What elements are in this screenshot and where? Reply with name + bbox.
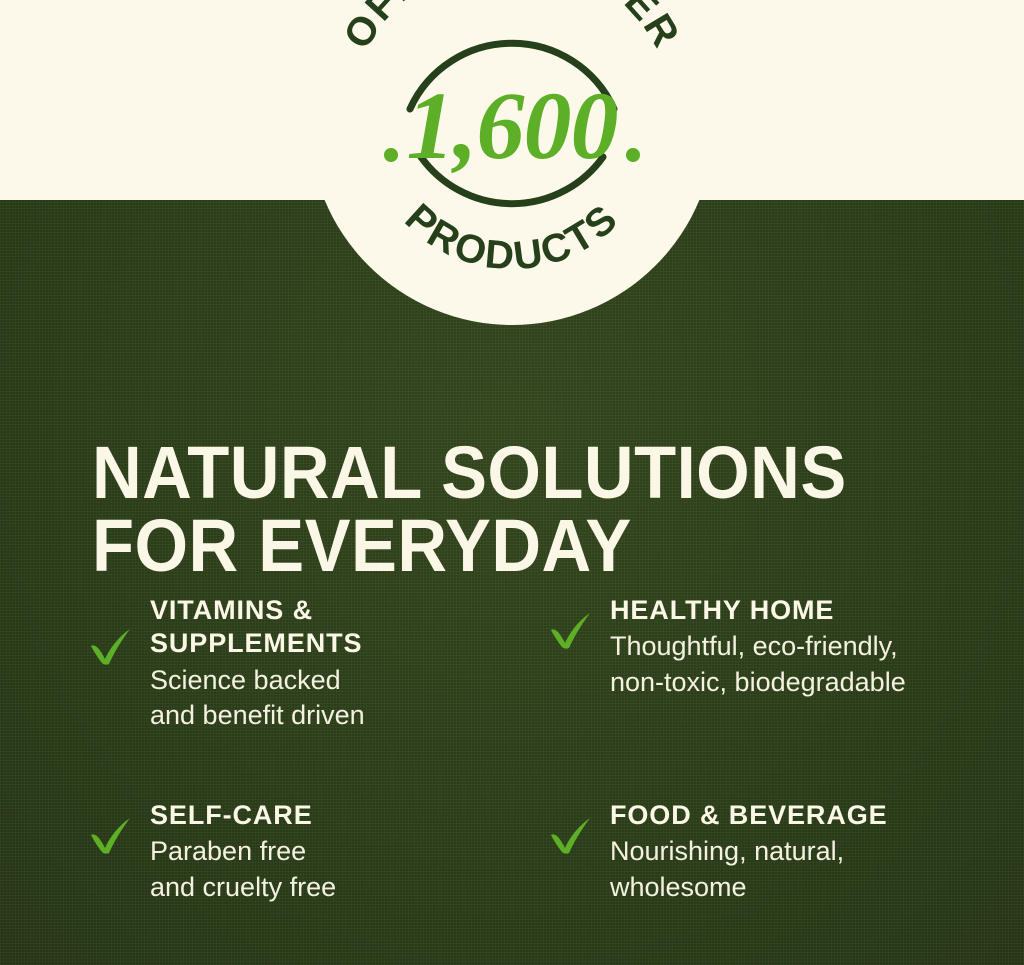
checkmark-wrapper <box>88 797 150 855</box>
badge-top-arc-textpath: OFFERING OVER <box>335 0 688 56</box>
feature-description: Paraben free and cruelty free <box>150 834 336 904</box>
feature-list: VITAMINS & SUPPLEMENTS Science backed an… <box>88 592 1000 905</box>
feature-description: Science backed and benefit driven <box>150 663 365 733</box>
feature-item-vitamins-supplements: VITAMINS & SUPPLEMENTS Science backed an… <box>88 592 548 797</box>
feature-title: HEALTHY HOME <box>610 594 906 627</box>
feature-text-block: VITAMINS & SUPPLEMENTS Science backed an… <box>150 592 365 733</box>
badge-bottom-arc-textpath: PRODUCTS <box>397 196 627 279</box>
feature-text-block: HEALTHY HOME Thoughtful, eco-friendly, n… <box>610 592 906 700</box>
badge-dot-right-icon <box>626 148 640 162</box>
feature-description: Nourishing, natural, wholesome <box>610 834 888 904</box>
feature-title: SELF-CARE <box>150 799 336 832</box>
headline-line-2: FOR EVERYDAY <box>92 509 910 582</box>
feature-text-block: SELF-CARE Paraben free and cruelty free <box>150 797 336 905</box>
badge-bottom-arc-label: PRODUCTS <box>397 196 627 279</box>
feature-item-food-beverage: FOOD & BEVERAGE Nourishing, natural, who… <box>548 797 1000 905</box>
badge-product-count: 1,600 <box>407 72 618 179</box>
checkmark-wrapper <box>88 592 150 666</box>
checkmark-wrapper <box>548 797 610 855</box>
checkmark-icon <box>88 815 134 855</box>
page-title: NATURAL SOLUTIONS FOR EVERYDAY <box>92 436 972 583</box>
checkmark-icon <box>548 815 594 855</box>
checkmark-wrapper <box>548 592 610 650</box>
feature-text-block: FOOD & BEVERAGE Nourishing, natural, who… <box>610 797 888 905</box>
feature-item-self-care: SELF-CARE Paraben free and cruelty free <box>88 797 548 905</box>
promo-poster: OFFERING OVER PRODUCTS 1,600 NATURAL SOL… <box>0 0 1024 965</box>
badge-top-arc-label: OFFERING OVER <box>335 0 688 56</box>
checkmark-icon <box>548 610 594 650</box>
headline-line-1: NATURAL SOLUTIONS <box>92 436 910 509</box>
feature-description: Thoughtful, eco-friendly, non-toxic, bio… <box>610 629 906 699</box>
checkmark-icon <box>88 626 134 666</box>
feature-title: FOOD & BEVERAGE <box>610 799 888 832</box>
badge-dot-left-icon <box>384 148 398 162</box>
offering-badge: OFFERING OVER PRODUCTS 1,600 <box>309 0 715 325</box>
feature-title: VITAMINS & SUPPLEMENTS <box>150 594 365 661</box>
badge-graphic: OFFERING OVER PRODUCTS 1,600 <box>309 0 715 325</box>
feature-item-healthy-home: HEALTHY HOME Thoughtful, eco-friendly, n… <box>548 592 1000 797</box>
